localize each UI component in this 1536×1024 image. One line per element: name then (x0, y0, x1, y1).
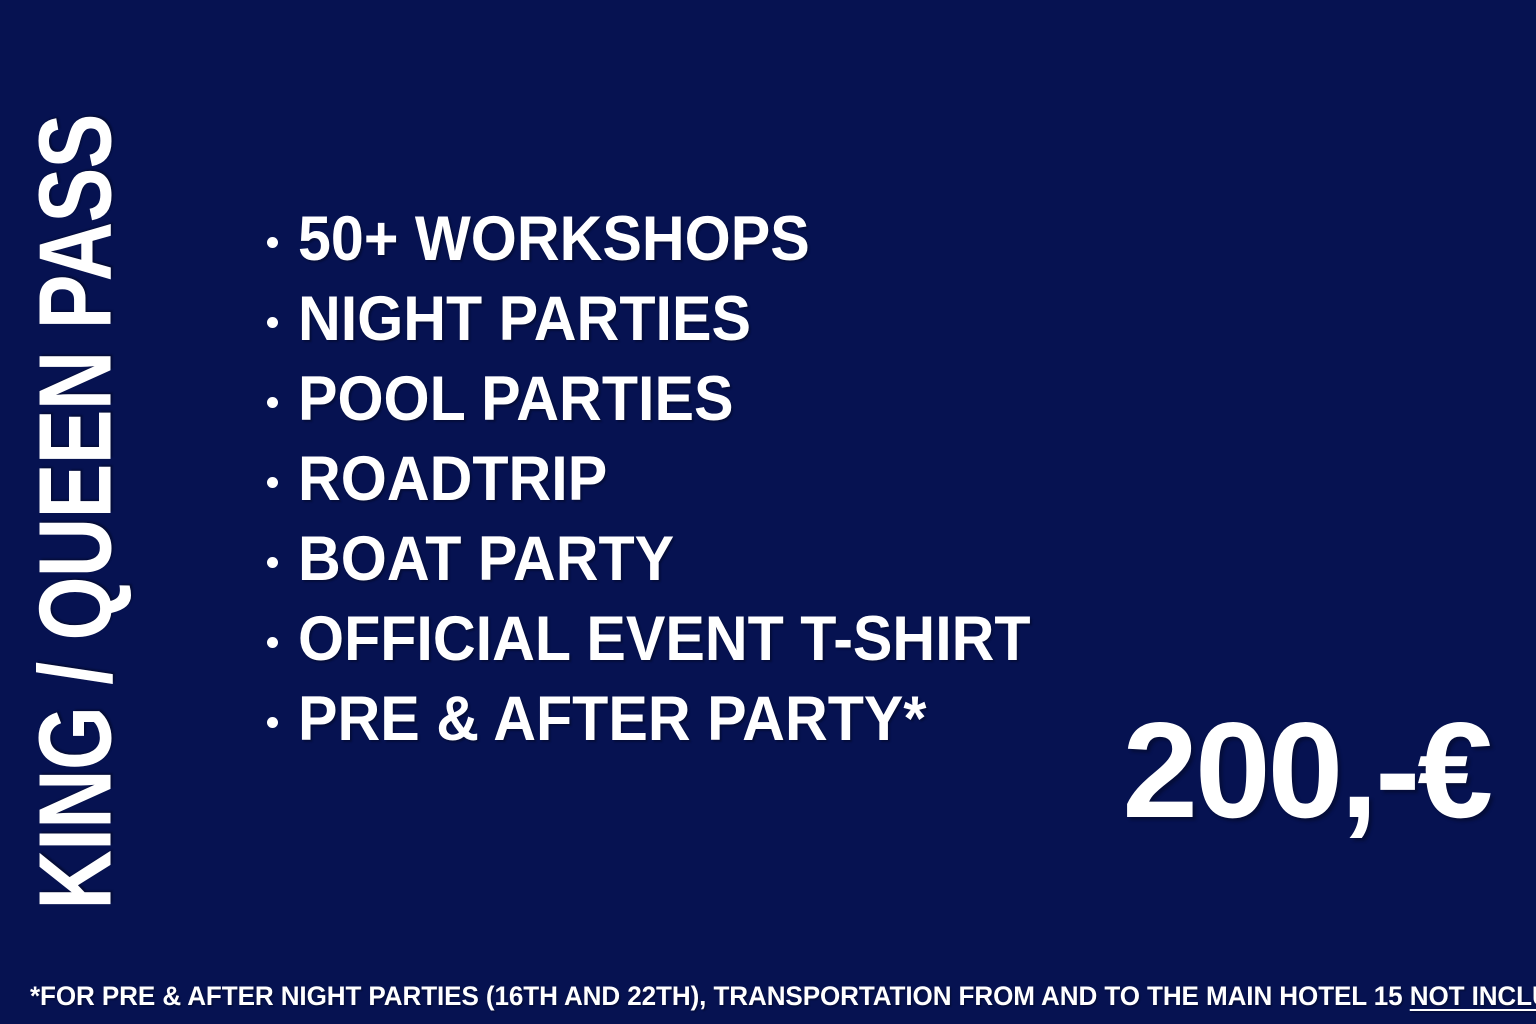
benefit-label: POOL PARTIES (298, 368, 733, 431)
benefit-label: PRE & AFTER PARTY* (298, 688, 926, 751)
list-item: NIGHT PARTIES (258, 288, 1077, 368)
benefit-label: 50+ WORKSHOPS (298, 208, 810, 271)
list-item: BOAT PARTY (258, 528, 1077, 608)
pass-poster: KING / QUEEN PASS 50+ WORKSHOPS NIGHT PA… (0, 0, 1536, 1024)
footnote: *FOR PRE & AFTER NIGHT PARTIES (16TH AND… (30, 982, 1536, 1012)
price-amount: 200,-€ (1122, 702, 1490, 838)
benefit-label: OFFICIAL EVENT T-SHIRT (298, 608, 1031, 671)
footnote-lead-text: *FOR PRE & AFTER NIGHT PARTIES (16TH AND… (30, 981, 1410, 1011)
bullet-dot-icon (258, 237, 298, 248)
list-item: OFFICIAL EVENT T-SHIRT (258, 608, 1077, 688)
benefit-label: BOAT PARTY (298, 528, 674, 591)
bullet-dot-icon (258, 557, 298, 568)
list-item: PRE & AFTER PARTY* (258, 688, 1077, 768)
list-item: 50+ WORKSHOPS (258, 208, 1077, 288)
bullet-dot-icon (258, 397, 298, 408)
footnote-emphasis-text: NOT INCLUDED (1410, 981, 1536, 1011)
pass-title-vertical: KING / QUEEN PASS (24, 15, 127, 1009)
bullet-dot-icon (258, 717, 298, 728)
side-title-container: KING / QUEEN PASS (0, 0, 150, 1024)
benefit-label: ROADTRIP (298, 448, 607, 511)
bullet-dot-icon (258, 317, 298, 328)
benefit-label: NIGHT PARTIES (298, 288, 751, 351)
pass-title-text: KING / QUEEN PASS (24, 114, 127, 909)
bullet-dot-icon (258, 637, 298, 648)
bullet-dot-icon (258, 477, 298, 488)
benefits-list: 50+ WORKSHOPS NIGHT PARTIES POOL PARTIES… (258, 208, 1077, 768)
list-item: POOL PARTIES (258, 368, 1077, 448)
list-item: ROADTRIP (258, 448, 1077, 528)
